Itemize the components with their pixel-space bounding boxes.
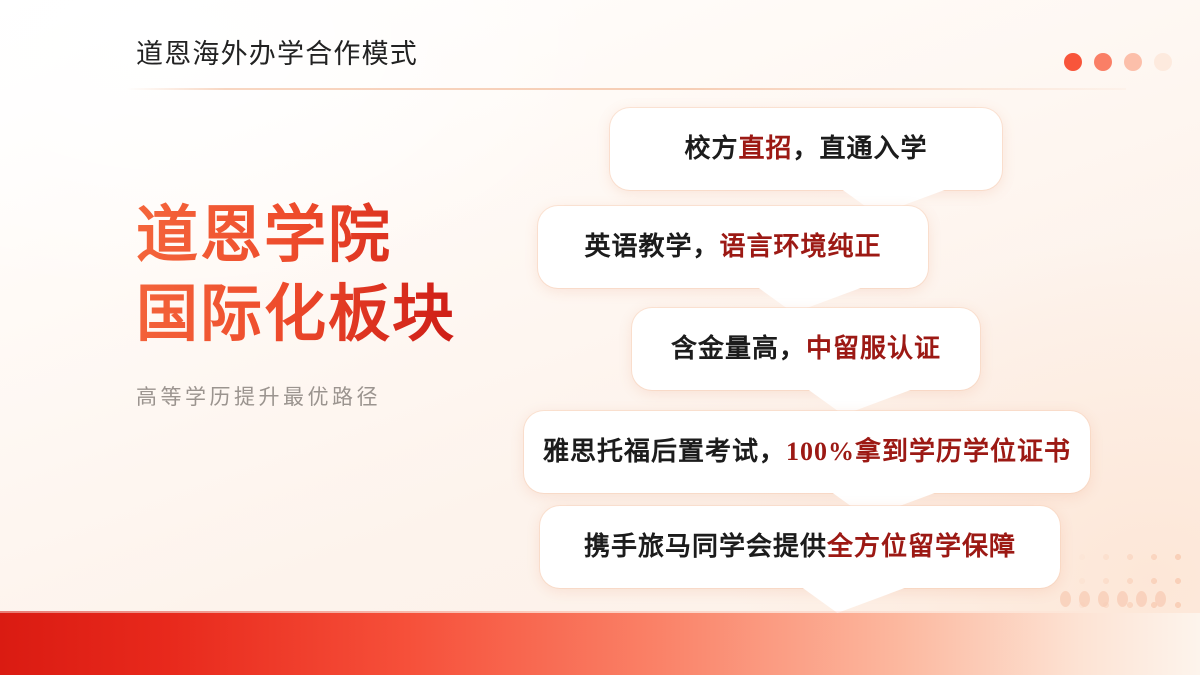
header-dot-group [1064, 53, 1172, 71]
bubble-5-tail [800, 586, 910, 613]
slide-header: 道恩海外办学合作模式 [0, 0, 1200, 92]
header-dot-3 [1124, 53, 1142, 71]
bubble-item-5[interactable]: 携手旅马同学会提供全方位留学保障 [540, 506, 1060, 588]
bubble-2-plain-before: 英语教学， [584, 232, 719, 261]
bubble-1-highlight: 直招 [738, 134, 792, 163]
bubble-2-highlight: 语言环境纯正 [720, 232, 882, 261]
bottom-oval-2 [1079, 591, 1090, 607]
headline-subtitle: 高等学历提升最优路径 [136, 381, 536, 411]
bottom-oval-4 [1117, 591, 1128, 607]
header-dot-1 [1064, 53, 1082, 71]
bubble-4-highlight: 100%拿到学历学位证书 [786, 437, 1071, 466]
bubble-item-3[interactable]: 含金量高，中留服认证 [632, 308, 980, 390]
bubble-1-plain-before: 校方 [684, 134, 738, 163]
header-dot-2 [1094, 53, 1112, 71]
bottom-oval-group [1060, 591, 1166, 607]
bubble-5-plain-before: 携手旅马同学会提供 [584, 532, 827, 561]
bubble-text-5: 携手旅马同学会提供全方位留学保障 [584, 534, 1016, 560]
bottom-oval-3 [1098, 591, 1109, 607]
bubble-5-highlight: 全方位留学保障 [827, 532, 1016, 561]
bubble-text-3: 含金量高，中留服认证 [671, 336, 941, 362]
bubble-text-1: 校方直招，直通入学 [684, 136, 927, 162]
bottom-oval-1 [1060, 591, 1071, 607]
page-title: 道恩海外办学合作模式 [136, 41, 418, 68]
bubble-4-plain-before: 雅思托福后置考试， [543, 437, 786, 466]
slide-root: 道恩海外办学合作模式 道恩学院 国际化板块 高等学历提升最优路径 校方直招，直通… [0, 0, 1200, 675]
headline-line-1: 道恩学院 [136, 201, 392, 270]
bottom-oval-5 [1136, 591, 1147, 607]
bubble-1-plain-after: ，直通入学 [793, 134, 928, 163]
bubble-text-4: 雅思托福后置考试，100%拿到学历学位证书 [543, 439, 1071, 465]
bubble-3-highlight: 中留服认证 [806, 334, 941, 363]
header-divider [126, 88, 1126, 90]
headline: 道恩学院 国际化板块 [136, 196, 536, 355]
bubble-item-1[interactable]: 校方直招，直通入学 [610, 108, 1002, 190]
bottom-oval-6 [1155, 591, 1166, 607]
bubble-text-2: 英语教学，语言环境纯正 [584, 234, 881, 260]
bubble-3-plain-before: 含金量高， [671, 334, 806, 363]
headline-block: 道恩学院 国际化板块 高等学历提升最优路径 [136, 196, 536, 411]
bubble-item-2[interactable]: 英语教学，语言环境纯正 [538, 206, 928, 288]
header-dot-4 [1154, 53, 1172, 71]
bottom-accent-bar [0, 613, 1200, 675]
headline-line-2: 国际化板块 [136, 275, 536, 354]
bubble-item-4[interactable]: 雅思托福后置考试，100%拿到学历学位证书 [524, 411, 1090, 493]
